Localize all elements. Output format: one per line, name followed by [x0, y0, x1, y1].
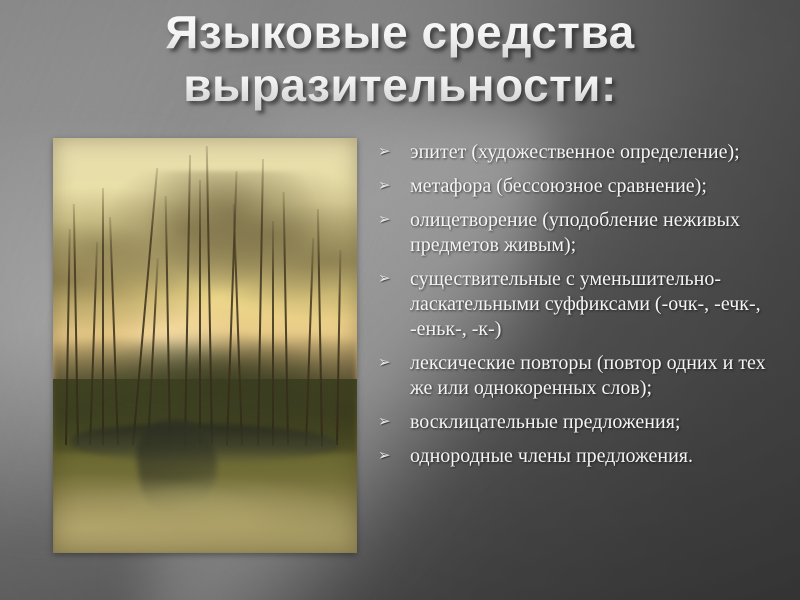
list-item-label: метафора (бессоюзное сравнение); — [410, 174, 782, 199]
arrow-bullet-icon: ➢ — [378, 444, 410, 469]
list-item: ➢ однородные члены предложения. — [378, 444, 782, 469]
presentation-slide: Языковые средства выразительности: — [0, 0, 800, 600]
arrow-bullet-icon: ➢ — [378, 267, 410, 292]
list-item: ➢ восклицательные предложения; — [378, 410, 782, 435]
list-item: ➢ метафора (бессоюзное сравнение); — [378, 174, 782, 199]
arrow-bullet-icon: ➢ — [378, 410, 410, 435]
list-item-label: существительные с уменьшительно-ласкател… — [410, 267, 782, 342]
list-item: ➢ олицетворение (уподобление неживых пре… — [378, 208, 782, 258]
arrow-bullet-icon: ➢ — [378, 208, 410, 233]
list-item: ➢ существительные с уменьшительно-ласкат… — [378, 267, 782, 342]
list-item: ➢ лексические повторы (повтор одних и те… — [378, 351, 782, 401]
list-item-label: лексические повторы (повтор одних и тех … — [410, 351, 782, 401]
slide-title: Языковые средства выразительности: — [40, 6, 760, 113]
forest-painting-image — [53, 138, 357, 553]
arrow-bullet-icon: ➢ — [378, 351, 410, 376]
list-item-label: восклицательные предложения; — [410, 410, 782, 435]
arrow-bullet-icon: ➢ — [378, 174, 410, 199]
arrow-bullet-icon: ➢ — [378, 140, 410, 165]
list-item: ➢ эпитет (художественное определение); — [378, 140, 782, 165]
painting-grass-tussocks — [53, 453, 357, 553]
list-item-label: однородные члены предложения. — [410, 444, 782, 469]
list-item-label: олицетворение (уподобление неживых предм… — [410, 208, 782, 258]
expressive-means-list: ➢ эпитет (художественное определение); ➢… — [378, 140, 782, 478]
list-item-label: эпитет (художественное определение); — [410, 140, 782, 165]
